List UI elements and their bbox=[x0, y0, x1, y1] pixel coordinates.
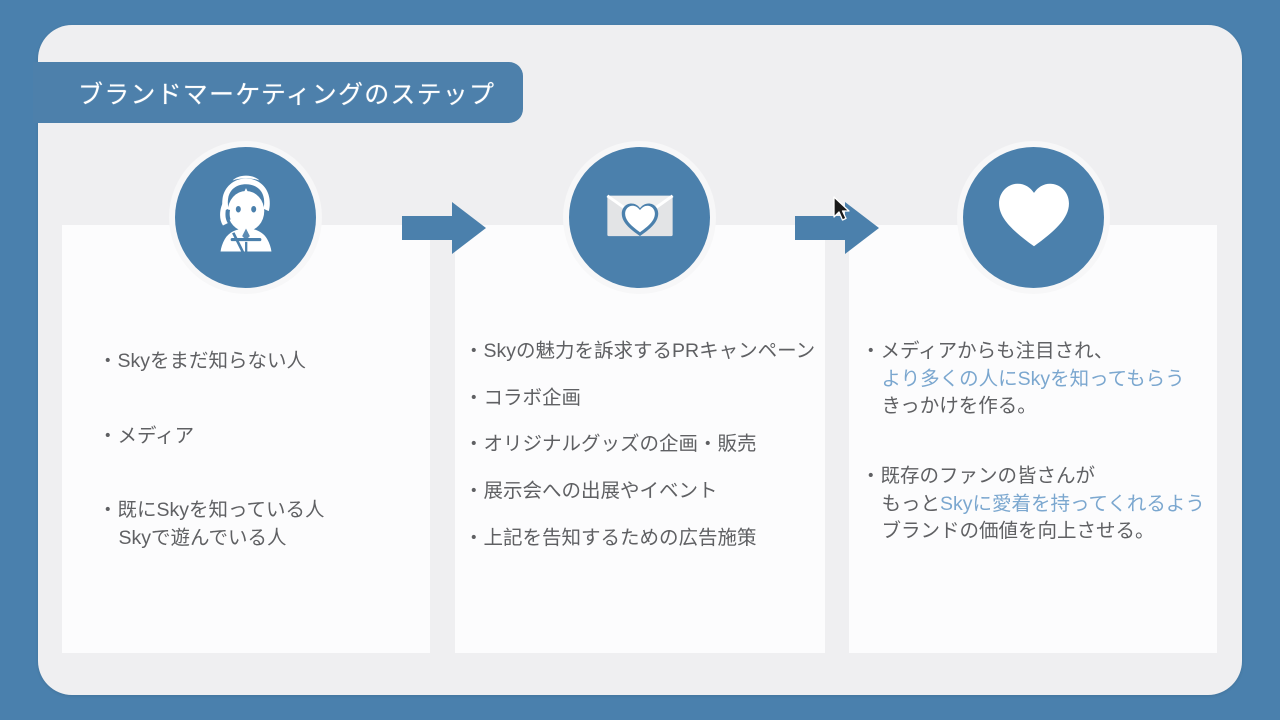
list-item: ・Skyをまだ知らない人 bbox=[98, 348, 325, 376]
list-item: ・既にSkyを知っている人 Skyで遊んでいる人 bbox=[98, 497, 325, 552]
step-3-list: ・メディアからも注目され、 より多くの人にSkyを知ってもらう きっかけを作る。… bbox=[861, 338, 1205, 546]
page-title: ブランドマーケティングのステップ bbox=[33, 75, 495, 111]
list-item: ・メディア bbox=[98, 423, 325, 451]
list-item: ・Skyの魅力を訴求するPRキャンペーン bbox=[464, 338, 815, 366]
list-item-line3: きっかけを作る。 bbox=[861, 393, 1205, 421]
step-1-list: ・Skyをまだ知らない人 ・メディア ・既にSkyを知っている人 Skyで遊んで… bbox=[98, 348, 325, 553]
list-item: ・オリジナルグッズの企画・販売 bbox=[464, 431, 815, 459]
slide-title-bar: ブランドマーケティングのステップ bbox=[33, 62, 523, 123]
list-item: ・既存のファンの皆さんが もっとSkyに愛着を持ってくれるよう ブランドの価値を… bbox=[861, 463, 1205, 546]
heart-icon bbox=[988, 169, 1080, 266]
step-2-icon-badge bbox=[569, 147, 710, 288]
step-1-icon-badge bbox=[175, 147, 316, 288]
list-item-line2: もっとSkyに愛着を持ってくれるよう bbox=[861, 491, 1205, 519]
envelope-heart-icon bbox=[592, 167, 688, 268]
list-item-line2-highlight: より多くの人にSkyを知ってもらう bbox=[861, 366, 1205, 394]
step-panel-2: ・Skyの魅力を訴求するPRキャンペーン ・コラボ企画 ・オリジナルグッズの企画… bbox=[455, 225, 825, 653]
list-item-line1: ・メディアからも注目され、 bbox=[861, 340, 1113, 362]
list-item-line1: ・既存のファンの皆さんが bbox=[861, 465, 1095, 487]
list-item-line3: ブランドの価値を向上させる。 bbox=[861, 518, 1205, 546]
step-3-icon-badge bbox=[963, 147, 1104, 288]
list-item: ・上記を告知するための広告施策 bbox=[464, 525, 815, 553]
list-item: ・メディアからも注目され、 より多くの人にSkyを知ってもらう きっかけを作る。 bbox=[861, 338, 1205, 421]
arrow-step1-to-step2 bbox=[402, 198, 486, 258]
list-item: ・展示会への出展やイベント bbox=[464, 478, 815, 506]
step-2-list: ・Skyの魅力を訴求するPRキャンペーン ・コラボ企画 ・オリジナルグッズの企画… bbox=[464, 338, 815, 552]
character-avatar-icon bbox=[198, 167, 294, 268]
step-panel-3: ・メディアからも注目され、 より多くの人にSkyを知ってもらう きっかけを作る。… bbox=[849, 225, 1217, 653]
arrow-step2-to-step3 bbox=[795, 198, 879, 258]
list-item: ・コラボ企画 bbox=[464, 385, 815, 413]
list-item-line2-plain: もっと bbox=[881, 493, 940, 515]
slide-canvas: ブランドマーケティングのステップ ・Skyをまだ知らない人 ・メディア ・既にS… bbox=[0, 0, 1280, 720]
list-item-line2-highlight: Skyに愛着を持ってくれるよう bbox=[940, 493, 1205, 515]
list-item-line1: ・既にSkyを知っている人 bbox=[98, 499, 325, 521]
step-panel-1: ・Skyをまだ知らない人 ・メディア ・既にSkyを知っている人 Skyで遊んで… bbox=[62, 225, 430, 653]
list-item-line2: Skyで遊んでいる人 bbox=[98, 525, 325, 553]
